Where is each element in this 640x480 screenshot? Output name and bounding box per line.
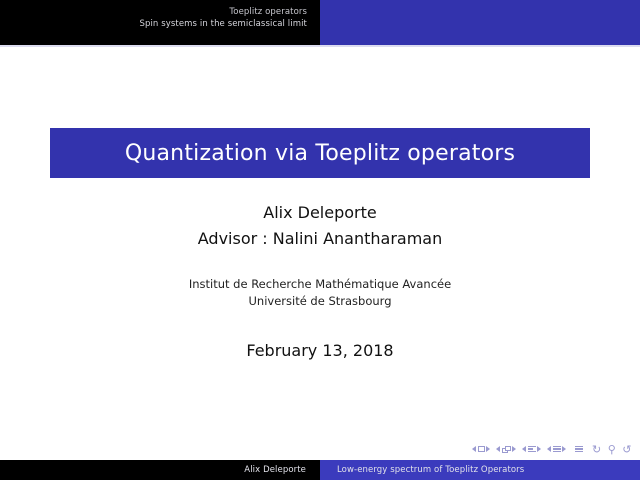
beamer-navigation-symbols[interactable]: ↻ ⚲ ↺: [472, 442, 632, 456]
advisor-name: Advisor : Nalini Anantharaman: [0, 226, 640, 252]
slide-footline: Alix Deleporte Low-energy spectrum of To…: [0, 460, 640, 480]
footline-title-block: Low-energy spectrum of Toeplitz Operator…: [320, 460, 640, 480]
chevron-left-icon[interactable]: [472, 446, 476, 452]
back-circular-arrow-icon[interactable]: ↻: [592, 444, 602, 455]
subsection-lines-icon[interactable]: [528, 446, 536, 452]
footline-author: Alix Deleporte: [244, 465, 306, 475]
chevron-left-icon[interactable]: [547, 446, 551, 452]
headline-presentation-subtitle: Spin systems in the semiclassical limit: [0, 18, 307, 30]
presentation-date: February 13, 2018: [0, 340, 640, 362]
chevron-left-icon[interactable]: [522, 446, 526, 452]
slide-headline: Toeplitz operators Spin systems in the s…: [0, 0, 640, 45]
slide-navigation-icon[interactable]: [472, 446, 490, 452]
chevron-right-icon[interactable]: [512, 446, 516, 452]
slide-square-icon[interactable]: [478, 446, 485, 452]
institute-line-2: Université de Strasbourg: [0, 293, 640, 310]
title-banner: Quantization via Toeplitz operators: [50, 128, 590, 178]
headline-underline: [0, 45, 640, 47]
institute-line-1: Institut de Recherche Mathématique Avanc…: [0, 276, 640, 293]
footline-title: Low-energy spectrum of Toeplitz Operator…: [337, 465, 524, 475]
headline-presentation-title: Toeplitz operators: [0, 6, 307, 18]
section-navigation-icon[interactable]: [547, 446, 566, 452]
presentation-navigation-icon[interactable]: [575, 446, 583, 452]
footline-author-block: Alix Deleporte: [0, 460, 320, 480]
chevron-right-icon[interactable]: [486, 446, 490, 452]
chevron-left-icon[interactable]: [496, 446, 500, 452]
headline-accent-block: [320, 0, 640, 45]
forward-circular-arrow-icon[interactable]: ↺: [622, 444, 632, 455]
page-title: Quantization via Toeplitz operators: [125, 141, 515, 166]
chevron-right-icon[interactable]: [562, 446, 566, 452]
section-lines-icon[interactable]: [553, 446, 561, 452]
title-slide-body: Alix Deleporte Advisor : Nalini Ananthar…: [0, 200, 640, 362]
find-icon[interactable]: ⚲: [608, 444, 617, 455]
institute-block: Institut de Recherche Mathématique Avanc…: [0, 276, 640, 310]
subsection-navigation-icon[interactable]: [522, 446, 541, 452]
frame-stack-icon[interactable]: [502, 446, 511, 453]
frame-navigation-icon[interactable]: [496, 446, 516, 453]
headline-title-block: Toeplitz operators Spin systems in the s…: [0, 0, 320, 45]
author-name: Alix Deleporte: [0, 200, 640, 226]
chevron-right-icon[interactable]: [537, 446, 541, 452]
